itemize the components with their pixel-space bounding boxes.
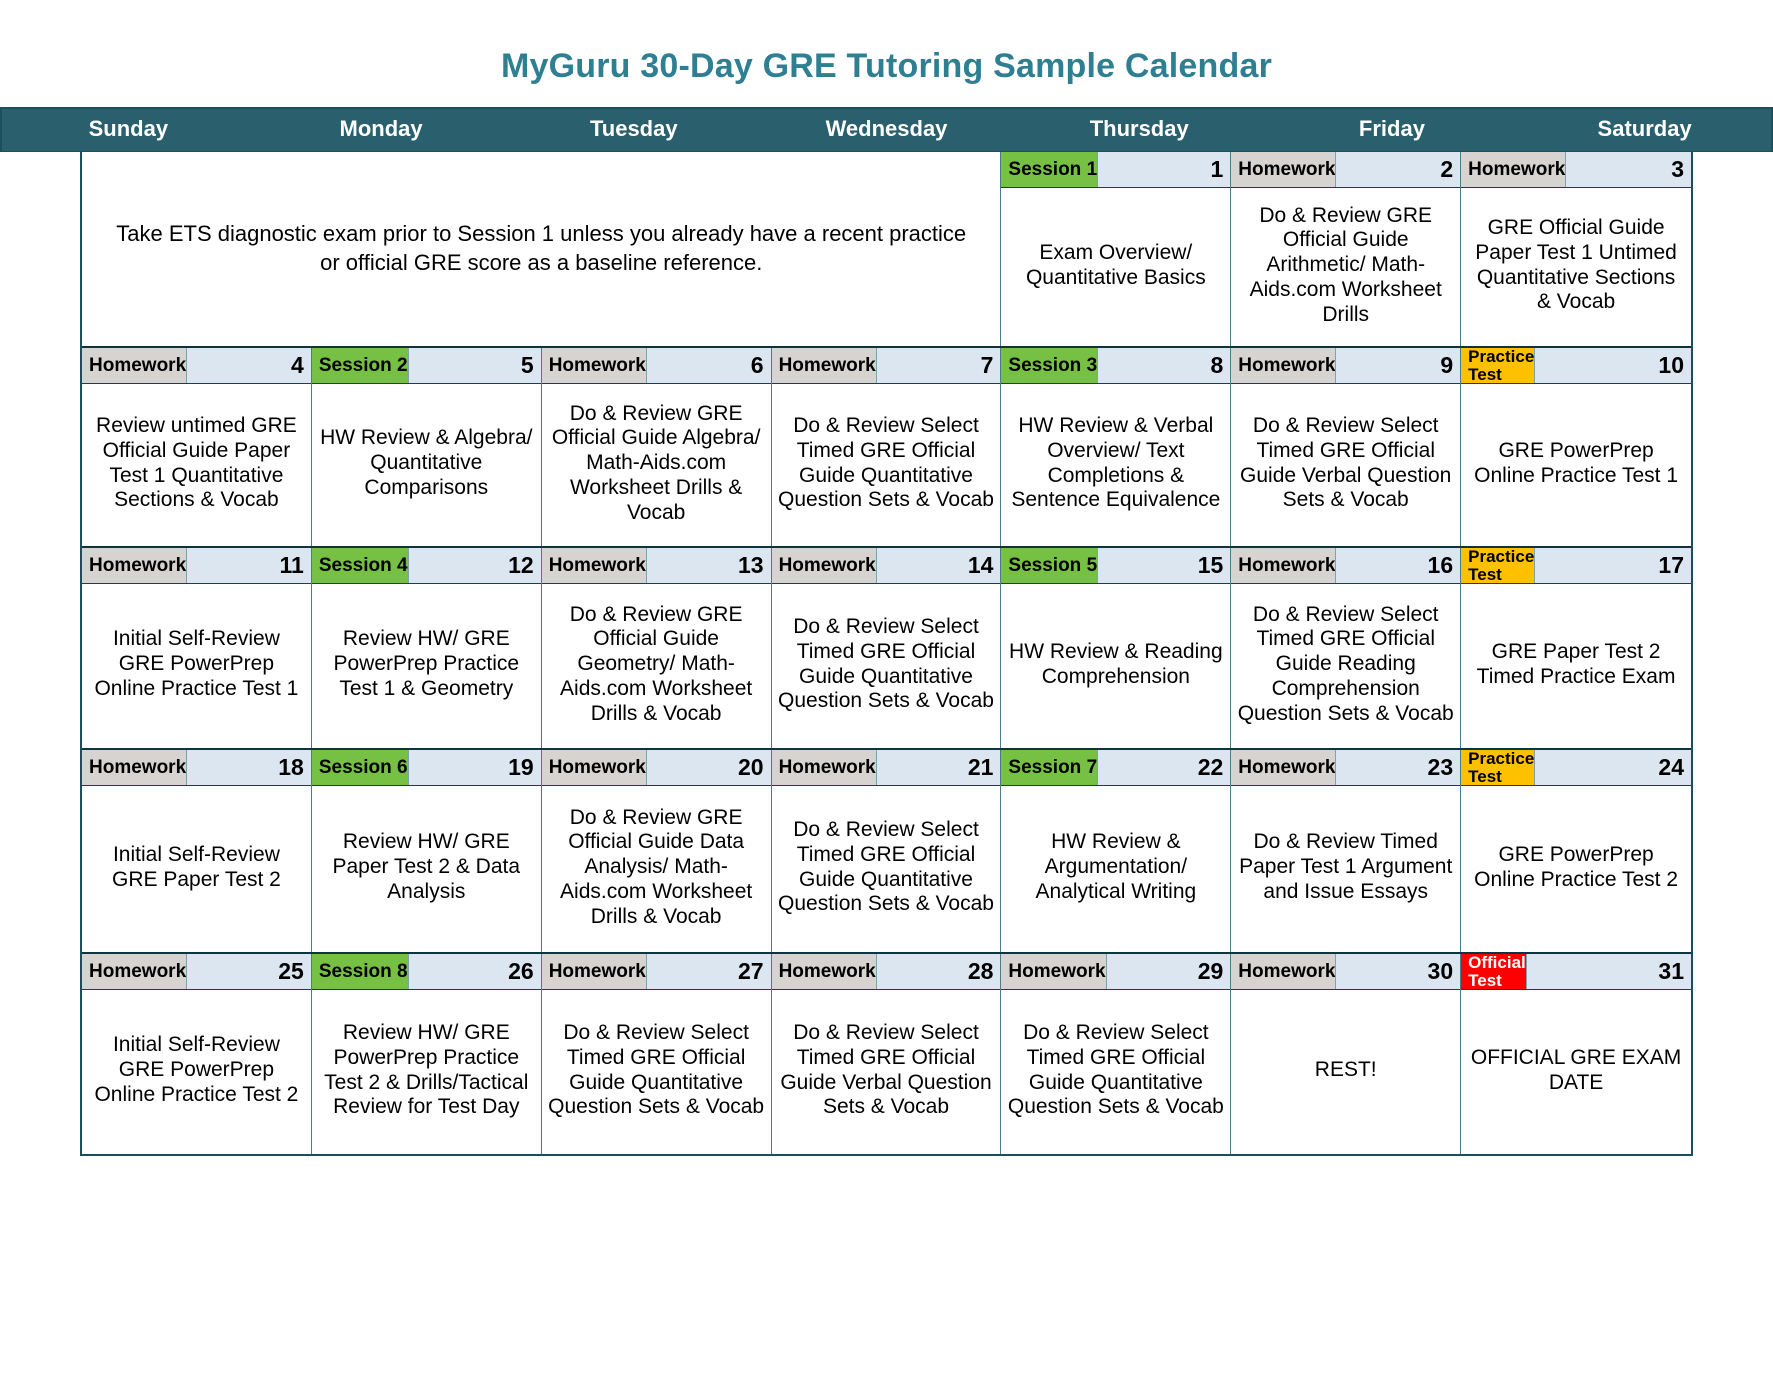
day-cell-21[interactable]: Homework21Do & Review Select Timed GRE O…	[772, 750, 1002, 952]
day-label-band: Session 515	[1001, 548, 1230, 584]
day-cell-23[interactable]: Homework23Do & Review Timed Paper Test 1…	[1231, 750, 1461, 952]
day-label-band: Homework13	[542, 548, 771, 584]
day-body-text: GRE Paper Test 2 Timed Practice Exam	[1461, 584, 1691, 748]
day-cell-24[interactable]: PracticeTest24GRE PowerPrep Online Pract…	[1461, 750, 1691, 952]
day-cell-9[interactable]: Homework9Do & Review Select Timed GRE Of…	[1231, 348, 1461, 546]
day-cell-26[interactable]: Session 826Review HW/ GRE PowerPrep Prac…	[312, 954, 542, 1154]
day-body-text: Do & Review Select Timed GRE Official Gu…	[1231, 384, 1460, 546]
day-cell-2[interactable]: Homework2Do & Review GRE Official Guide …	[1231, 152, 1461, 346]
day-body-text: Do & Review Select Timed GRE Official Gu…	[772, 990, 1001, 1154]
day-number: 2	[1335, 152, 1460, 187]
day-number: 30	[1335, 954, 1460, 989]
day-cell-30[interactable]: Homework30REST!	[1231, 954, 1461, 1154]
day-label-band: Homework16	[1231, 548, 1460, 584]
weekday-header-row: SundayMondayTuesdayWednesdayThursdayFrid…	[0, 107, 1773, 151]
day-body-text: HW Review & Algebra/ Quantitative Compar…	[312, 384, 541, 546]
day-number: 4	[186, 348, 311, 383]
day-label-band: Homework7	[772, 348, 1001, 384]
day-label-band: Session 25	[312, 348, 541, 384]
day-tag-homework: Homework	[82, 348, 186, 383]
day-tag-homework: Homework	[1461, 152, 1565, 187]
day-cell-11[interactable]: Homework11Initial Self-Review GRE PowerP…	[82, 548, 312, 748]
day-number: 3	[1565, 152, 1691, 187]
day-number: 27	[646, 954, 771, 989]
day-tag-homework: Homework	[82, 548, 186, 583]
day-number: 26	[408, 954, 541, 989]
day-tag-homework: Homework	[1001, 954, 1105, 989]
day-number: 10	[1534, 348, 1691, 383]
day-number: 8	[1097, 348, 1230, 383]
day-tag-homework: Homework	[542, 348, 646, 383]
weekday-header-tuesday: Tuesday	[507, 109, 760, 150]
page-title: MyGuru 30-Day GRE Tutoring Sample Calend…	[0, 0, 1773, 107]
day-cell-16[interactable]: Homework16Do & Review Select Timed GRE O…	[1231, 548, 1461, 748]
day-tag-homework: Homework	[1231, 954, 1335, 989]
day-tag-practice: PracticeTest	[1461, 548, 1534, 583]
weekday-header-saturday: Saturday	[1518, 109, 1771, 150]
day-tag-homework: Homework	[1231, 152, 1335, 187]
day-number: 29	[1106, 954, 1231, 989]
day-cell-14[interactable]: Homework14Do & Review Select Timed GRE O…	[772, 548, 1002, 748]
day-label-band: Homework25	[82, 954, 311, 990]
weekday-header-thursday: Thursday	[1013, 109, 1266, 150]
day-body-text: Do & Review GRE Official Guide Algebra/ …	[542, 384, 771, 546]
day-number: 15	[1097, 548, 1230, 583]
week-row: Homework18Initial Self-Review GRE Paper …	[82, 750, 1691, 954]
day-label-band: OfficialTest31	[1461, 954, 1691, 990]
day-cell-5[interactable]: Session 25HW Review & Algebra/ Quantitat…	[312, 348, 542, 546]
day-label-band: Homework14	[772, 548, 1001, 584]
day-number: 21	[876, 750, 1001, 785]
day-tag-session: Session 1	[1001, 152, 1097, 187]
day-cell-29[interactable]: Homework29Do & Review Select Timed GRE O…	[1001, 954, 1231, 1154]
day-body-text: Do & Review Select Timed GRE Official Gu…	[772, 786, 1001, 952]
day-body-text: HW Review & Verbal Overview/ Text Comple…	[1001, 384, 1230, 546]
day-cell-15[interactable]: Session 515HW Review & Reading Comprehen…	[1001, 548, 1231, 748]
day-cell-17[interactable]: PracticeTest17GRE Paper Test 2 Timed Pra…	[1461, 548, 1691, 748]
day-tag-homework: Homework	[542, 548, 646, 583]
day-label-band: Homework20	[542, 750, 771, 786]
day-cell-19[interactable]: Session 619Review HW/ GRE Paper Test 2 &…	[312, 750, 542, 952]
day-body-text: Review HW/ GRE Paper Test 2 & Data Analy…	[312, 786, 541, 952]
day-tag-session: Session 3	[1001, 348, 1097, 383]
day-body-text: GRE Official Guide Paper Test 1 Untimed …	[1461, 188, 1691, 346]
day-number: 1	[1097, 152, 1230, 187]
day-number: 6	[646, 348, 771, 383]
day-tag-official: OfficialTest	[1461, 954, 1526, 989]
day-tag-session: Session 6	[312, 750, 408, 785]
day-cell-10[interactable]: PracticeTest10GRE PowerPrep Online Pract…	[1461, 348, 1691, 546]
day-tag-practice: PracticeTest	[1461, 750, 1534, 785]
day-cell-12[interactable]: Session 412Review HW/ GRE PowerPrep Prac…	[312, 548, 542, 748]
day-label-band: Homework4	[82, 348, 311, 384]
day-number: 11	[186, 548, 311, 583]
week-row: Homework11Initial Self-Review GRE PowerP…	[82, 548, 1691, 750]
day-number: 20	[646, 750, 771, 785]
day-body-text: HW Review & Argumentation/ Analytical Wr…	[1001, 786, 1230, 952]
day-number: 31	[1526, 954, 1691, 989]
week-row: Homework25Initial Self-Review GRE PowerP…	[82, 954, 1691, 1154]
day-body-text: REST!	[1231, 990, 1460, 1154]
day-label-band: Homework3	[1461, 152, 1691, 188]
day-label-band: Homework11	[82, 548, 311, 584]
day-body-text: Do & Review Timed Paper Test 1 Argument …	[1231, 786, 1460, 952]
day-label-band: Session 11	[1001, 152, 1230, 188]
day-body-text: GRE PowerPrep Online Practice Test 2	[1461, 786, 1691, 952]
day-number: 28	[876, 954, 1001, 989]
day-number: 7	[876, 348, 1001, 383]
day-tag-practice: PracticeTest	[1461, 348, 1534, 383]
day-number: 16	[1335, 548, 1460, 583]
day-body-text: Do & Review Select Timed GRE Official Gu…	[772, 584, 1001, 748]
day-tag-session: Session 2	[312, 348, 408, 383]
day-tag-homework: Homework	[542, 954, 646, 989]
day-tag-session: Session 7	[1001, 750, 1097, 785]
day-number: 17	[1534, 548, 1691, 583]
day-number: 18	[186, 750, 311, 785]
day-tag-homework: Homework	[772, 954, 876, 989]
week-row: Take ETS diagnostic exam prior to Sessio…	[82, 152, 1691, 348]
day-tag-session: Session 4	[312, 548, 408, 583]
day-label-band: Session 722	[1001, 750, 1230, 786]
day-label-band: Homework29	[1001, 954, 1230, 990]
day-number: 13	[646, 548, 771, 583]
day-body-text: Review HW/ GRE PowerPrep Practice Test 2…	[312, 990, 541, 1154]
day-number: 23	[1335, 750, 1460, 785]
day-tag-homework: Homework	[1231, 348, 1335, 383]
day-cell-7[interactable]: Homework7Do & Review Select Timed GRE Of…	[772, 348, 1002, 546]
day-cell-3[interactable]: Homework3GRE Official Guide Paper Test 1…	[1461, 152, 1691, 346]
day-body-text: Initial Self-Review GRE PowerPrep Online…	[82, 990, 311, 1154]
day-body-text: OFFICIAL GRE EXAM DATE	[1461, 990, 1691, 1154]
day-label-band: Homework21	[772, 750, 1001, 786]
weekday-header-wednesday: Wednesday	[760, 109, 1013, 150]
day-label-band: Session 38	[1001, 348, 1230, 384]
day-label-band: PracticeTest24	[1461, 750, 1691, 786]
day-label-band: Homework27	[542, 954, 771, 990]
day-label-band: Homework9	[1231, 348, 1460, 384]
day-tag-session: Session 5	[1001, 548, 1097, 583]
day-body-text: Do & Review Select Timed GRE Official Gu…	[542, 990, 771, 1154]
day-label-band: Homework23	[1231, 750, 1460, 786]
day-number: 25	[186, 954, 311, 989]
day-number: 19	[408, 750, 541, 785]
weekday-header-sunday: Sunday	[2, 109, 255, 150]
day-number: 14	[876, 548, 1001, 583]
day-label-band: PracticeTest10	[1461, 348, 1691, 384]
day-label-band: Homework30	[1231, 954, 1460, 990]
day-label-band: Homework6	[542, 348, 771, 384]
day-body-text: Initial Self-Review GRE PowerPrep Online…	[82, 584, 311, 748]
day-cell-31[interactable]: OfficialTest31OFFICIAL GRE EXAM DATE	[1461, 954, 1691, 1154]
day-label-band: Session 619	[312, 750, 541, 786]
day-body-text: GRE PowerPrep Online Practice Test 1	[1461, 384, 1691, 546]
day-tag-homework: Homework	[772, 348, 876, 383]
day-label-band: Homework18	[82, 750, 311, 786]
day-tag-session: Session 8	[312, 954, 408, 989]
diagnostic-note-cell: Take ETS diagnostic exam prior to Sessio…	[82, 152, 1001, 346]
weekday-header-friday: Friday	[1266, 109, 1519, 150]
day-cell-1[interactable]: Session 11Exam Overview/ Quantitative Ba…	[1001, 152, 1231, 346]
day-tag-homework: Homework	[772, 750, 876, 785]
day-body-text: Do & Review GRE Official Guide Data Anal…	[542, 786, 771, 952]
week-row: Homework4Review untimed GRE Official Gui…	[82, 348, 1691, 548]
calendar: SundayMondayTuesdayWednesdayThursdayFrid…	[0, 107, 1773, 1155]
day-label-band: PracticeTest17	[1461, 548, 1691, 584]
day-body-text: Review HW/ GRE PowerPrep Practice Test 1…	[312, 584, 541, 748]
day-cell-28[interactable]: Homework28Do & Review Select Timed GRE O…	[772, 954, 1002, 1154]
day-number: 24	[1534, 750, 1691, 785]
day-body-text: Do & Review GRE Official Guide Geometry/…	[542, 584, 771, 748]
day-label-band: Homework28	[772, 954, 1001, 990]
day-body-text: Do & Review Select Timed GRE Official Gu…	[1231, 584, 1460, 748]
day-cell-18[interactable]: Homework18Initial Self-Review GRE Paper …	[82, 750, 312, 952]
day-body-text: Review untimed GRE Official Guide Paper …	[82, 384, 311, 546]
day-tag-homework: Homework	[772, 548, 876, 583]
day-cell-20[interactable]: Homework20Do & Review GRE Official Guide…	[542, 750, 772, 952]
day-body-text: HW Review & Reading Comprehension	[1001, 584, 1230, 748]
day-cell-25[interactable]: Homework25Initial Self-Review GRE PowerP…	[82, 954, 312, 1154]
calendar-grid: Take ETS diagnostic exam prior to Sessio…	[80, 152, 1693, 1156]
day-body-text: Exam Overview/ Quantitative Basics	[1001, 188, 1230, 346]
day-tag-homework: Homework	[82, 954, 186, 989]
day-label-band: Session 826	[312, 954, 541, 990]
day-cell-22[interactable]: Session 722HW Review & Argumentation/ An…	[1001, 750, 1231, 952]
day-body-text: Initial Self-Review GRE Paper Test 2	[82, 786, 311, 952]
day-cell-4[interactable]: Homework4Review untimed GRE Official Gui…	[82, 348, 312, 546]
day-number: 12	[408, 548, 541, 583]
day-body-text: Do & Review Select Timed GRE Official Gu…	[772, 384, 1001, 546]
day-cell-13[interactable]: Homework13Do & Review GRE Official Guide…	[542, 548, 772, 748]
day-tag-homework: Homework	[82, 750, 186, 785]
day-number: 22	[1097, 750, 1230, 785]
day-cell-27[interactable]: Homework27Do & Review Select Timed GRE O…	[542, 954, 772, 1154]
day-number: 5	[408, 348, 541, 383]
day-tag-homework: Homework	[542, 750, 646, 785]
day-number: 9	[1335, 348, 1460, 383]
day-body-text: Do & Review Select Timed GRE Official Gu…	[1001, 990, 1230, 1154]
day-tag-homework: Homework	[1231, 548, 1335, 583]
weekday-header-monday: Monday	[255, 109, 508, 150]
day-label-band: Session 412	[312, 548, 541, 584]
day-label-band: Homework2	[1231, 152, 1460, 188]
day-cell-6[interactable]: Homework6Do & Review GRE Official Guide …	[542, 348, 772, 546]
day-tag-homework: Homework	[1231, 750, 1335, 785]
day-body-text: Do & Review GRE Official Guide Arithmeti…	[1231, 188, 1460, 346]
day-cell-8[interactable]: Session 38HW Review & Verbal Overview/ T…	[1001, 348, 1231, 546]
